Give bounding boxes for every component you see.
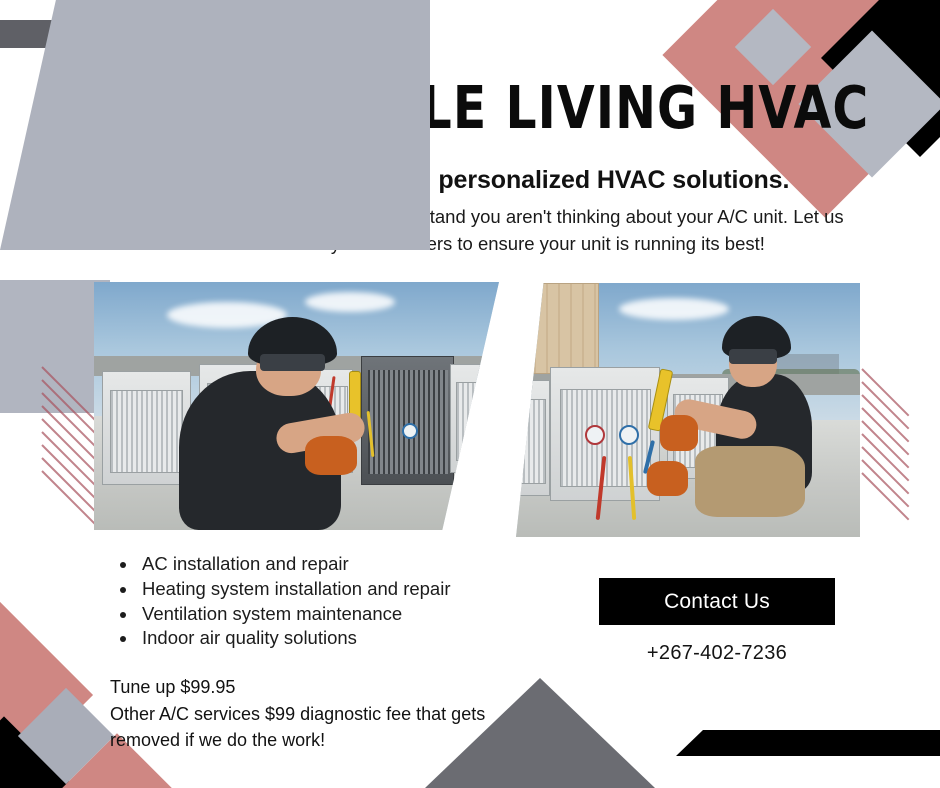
photo1-condenser-unit (102, 371, 191, 485)
photo2-work-glove (647, 461, 688, 497)
photo2-technician-shorts (695, 446, 805, 517)
photo1-safety-glasses (260, 354, 325, 371)
photo2-gauge-red (585, 425, 605, 445)
phone-number[interactable]: +267-402-7236 (599, 642, 835, 665)
bottom-right-black-parallelogram (676, 730, 940, 756)
photo1-cloud (305, 292, 395, 312)
left-gray-block (0, 280, 110, 413)
right-hatch-lines (862, 368, 940, 488)
photo1-open-condenser (361, 356, 454, 485)
services-list: AC installation and repair Heating syste… (112, 552, 451, 651)
photo2-beige-wall (523, 283, 599, 374)
photo2-condenser-unit-main (550, 367, 660, 502)
photo2-condenser-unit (516, 380, 550, 497)
list-item: Indoor air quality solutions (138, 626, 451, 651)
list-item: AC installation and repair (138, 552, 451, 577)
pricing-line-tuneup: Tune up $99.95 (110, 674, 502, 701)
pricing-line-diagnostic: Other A/C services $99 diagnostic fee th… (110, 701, 502, 754)
photo2-safety-glasses (729, 349, 777, 364)
contact-us-button[interactable]: Contact Us (599, 578, 835, 625)
hvac-flyer: COMFORTABLE LIVING HVAC Trust us for rel… (0, 0, 940, 788)
photo1-condenser-unit (450, 364, 499, 473)
list-item: Ventilation system maintenance (138, 602, 451, 627)
photo1-work-glove (305, 436, 358, 476)
pricing-block: Tune up $99.95 Other A/C services $99 di… (110, 674, 502, 754)
photo2-work-glove (660, 415, 698, 451)
photo2-gray-backing-plate (0, 0, 430, 250)
list-item: Heating system installation and repair (138, 577, 451, 602)
photo-hvac-technician-multimeter (94, 282, 499, 530)
photo-hvac-technician-manifold-gauges (516, 283, 860, 537)
